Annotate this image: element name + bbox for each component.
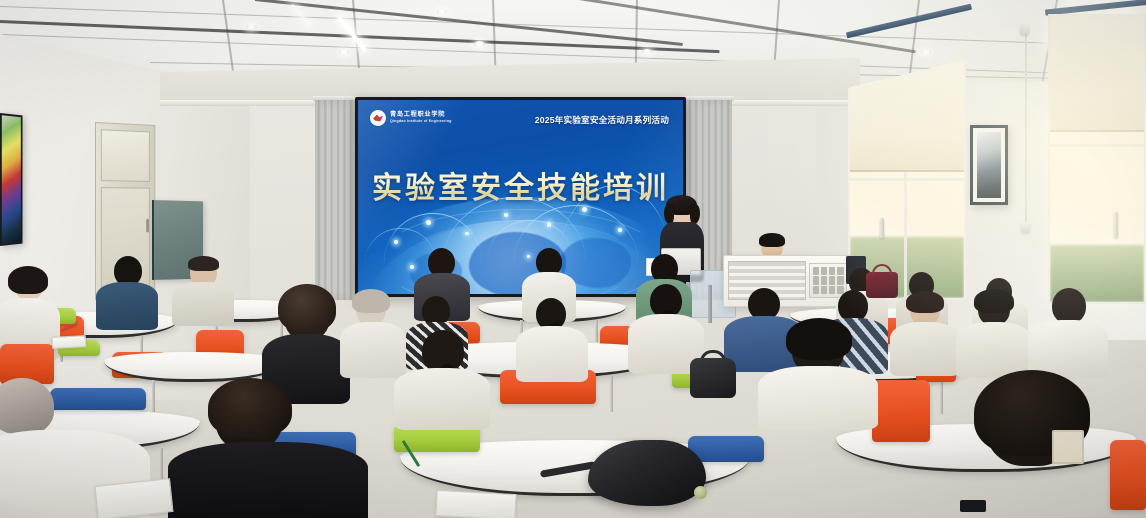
ceiling-downlight [246,24,257,30]
network-node [618,228,622,232]
institution-logo: 青岛工程职业学院 Qingdao Institute of Engineerin… [370,110,451,126]
console-button[interactable] [821,267,828,275]
event-banner-text: 2025年实验室安全活动月系列活动 [535,114,669,126]
network-node [394,240,398,244]
window-handle[interactable] [1114,212,1118,238]
conduit-junction-box [1021,222,1030,233]
photo-image [977,132,1001,198]
smartphone[interactable] [960,500,986,512]
hair-clip-accessory [1052,430,1084,464]
audience-person-foreground [168,388,368,518]
roller-blind-near[interactable] [1050,14,1144,132]
lectern-post [708,285,712,323]
institution-name-cn: 青岛工程职业学院 [390,112,451,118]
presentation-title: 实验室安全技能培训 [358,163,683,207]
audience-person [516,298,588,378]
audience-person [96,256,158,328]
console-button[interactable] [813,276,820,284]
ceiling-tube-light [291,4,310,26]
ceiling-downlight [474,41,485,47]
console-button[interactable] [813,267,820,275]
wall-photo-frame [970,125,1008,205]
presenter-hair-side [690,204,700,224]
handbag-black [690,358,736,398]
console-button[interactable] [821,276,828,284]
console-button[interactable] [829,267,836,275]
ceiling-downlight [339,50,349,55]
notebook [435,490,516,518]
classroom-photo-scene: 青岛工程职业学院 Qingdao Institute of Engineerin… [0,0,1146,518]
audience-person [172,258,234,324]
audience-person [956,292,1032,372]
photo-mat [973,128,1005,202]
screen-content: 青岛工程职业学院 Qingdao Institute of Engineerin… [358,100,683,294]
notebook [94,478,173,518]
audience-person [890,294,960,372]
audience-person [758,324,878,424]
console-button[interactable] [829,276,836,284]
audience-person [628,284,704,370]
presenter-hair-side [664,204,674,224]
ceiling-downlight [437,9,447,14]
chair-orange[interactable] [872,380,930,442]
audience-person [262,288,350,398]
folded-umbrella [588,440,706,506]
notebook [52,335,87,349]
crane-emblem-icon [370,110,386,126]
operator-hair [759,233,785,247]
window-handle[interactable] [880,218,884,238]
wall-art-abstract-painting [0,113,23,246]
umbrella-tip [694,486,707,499]
audience-person [1028,288,1108,372]
ceiling-downlight [642,49,652,54]
network-node [504,213,508,217]
audience-person-foreground [938,382,1146,518]
door-handle[interactable] [146,219,149,233]
door-glass-panel [101,129,150,182]
institution-name-en: Qingdao Institute of Engineering [390,120,451,124]
network-node [547,222,552,227]
audience-person [394,330,490,426]
network-node [582,207,587,212]
vertical-blinds-left[interactable] [315,100,355,300]
ceiling-downlight [921,50,931,55]
conduit-junction-box [1020,24,1029,35]
wall-conduit [1025,30,1027,230]
